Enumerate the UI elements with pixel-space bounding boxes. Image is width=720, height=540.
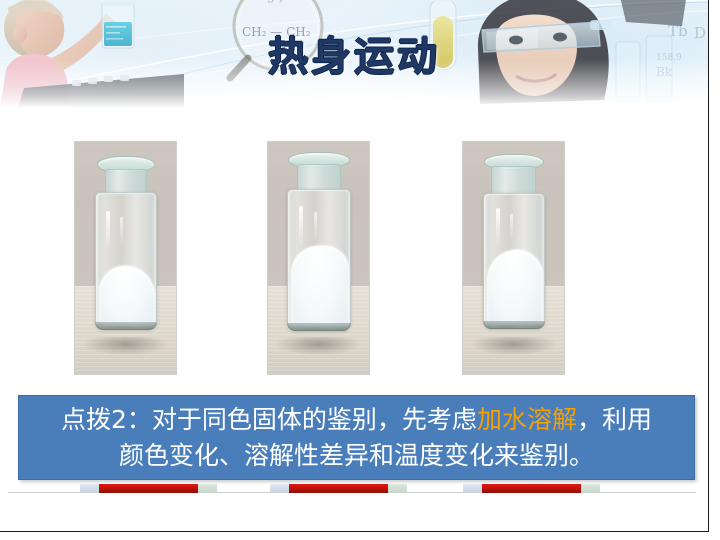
thumbnail-red-band xyxy=(99,484,198,493)
page-title: 热身运动 xyxy=(0,24,708,82)
thumbnail-edge-right xyxy=(388,484,407,493)
thumbnail-red-band xyxy=(482,484,581,493)
glass-highlight xyxy=(120,217,123,245)
clipped-thumbnail-2[interactable] xyxy=(270,484,407,493)
tip-line1-prefix: 点拨2：对于同色固体的鉴别，先考虑 xyxy=(61,405,477,434)
bottle-base xyxy=(483,321,545,329)
clipped-thumbnail-1[interactable] xyxy=(80,484,217,493)
presentation-slide: owing formul CH₂ — CH₂ xyxy=(0,0,720,540)
tip-callout[interactable]: 点拨2：对于同色固体的鉴别，先考虑加水溶解，利用 颜色变化、溶解性差异和温度变化… xyxy=(18,395,695,480)
bottle-shadow xyxy=(83,337,168,356)
photo-scene xyxy=(463,142,564,374)
bottle-neck xyxy=(491,166,536,196)
slide-frame-right xyxy=(708,0,709,532)
tip-line2: 颜色变化、溶解性差异和温度变化来鉴别。 xyxy=(119,441,594,470)
glass-highlight xyxy=(496,208,500,246)
bottle-neck xyxy=(297,164,341,192)
bottle-photo-row xyxy=(0,142,708,374)
glass-highlight xyxy=(299,206,303,248)
bottle-shadow xyxy=(471,337,556,356)
tip-line1-suffix: ，利用 xyxy=(577,405,652,434)
bottle-body xyxy=(95,192,157,330)
science-header-banner: owing formul CH₂ — CH₂ xyxy=(0,0,708,108)
bottle-body xyxy=(287,189,351,331)
clipped-thumbnail-3[interactable] xyxy=(463,484,600,493)
reagent-bottle-photo-1[interactable] xyxy=(75,142,176,374)
bottle-shadow xyxy=(276,337,361,356)
thumbnail-edge-right xyxy=(198,484,217,493)
tip-callout-text: 点拨2：对于同色固体的鉴别，先考虑加水溶解，利用 颜色变化、溶解性差异和温度变化… xyxy=(51,402,662,474)
bottle-body xyxy=(483,193,545,329)
bottle-base xyxy=(287,323,351,331)
thumbnail-edge-left xyxy=(270,484,289,493)
slide-frame-bottom xyxy=(0,531,709,532)
thumbnail-red-band xyxy=(289,484,388,493)
thumbnail-edge-left xyxy=(80,484,99,493)
thumbnail-edge-left xyxy=(463,484,482,493)
reagent-bottle-photo-3[interactable] xyxy=(463,142,564,374)
tip-highlight: 加水溶解 xyxy=(477,405,577,434)
glass-highlight xyxy=(106,211,110,251)
glass-highlight xyxy=(314,212,317,242)
white-powder-solid xyxy=(291,246,349,327)
bottle-base xyxy=(95,322,157,330)
white-powder-solid xyxy=(487,250,543,325)
glass-highlight xyxy=(510,214,513,240)
reagent-bottle-photo-2[interactable] xyxy=(268,142,369,374)
white-powder-solid xyxy=(99,266,155,326)
photo-scene xyxy=(268,142,369,374)
photo-scene xyxy=(75,142,176,374)
thumbnail-edge-right xyxy=(581,484,600,493)
